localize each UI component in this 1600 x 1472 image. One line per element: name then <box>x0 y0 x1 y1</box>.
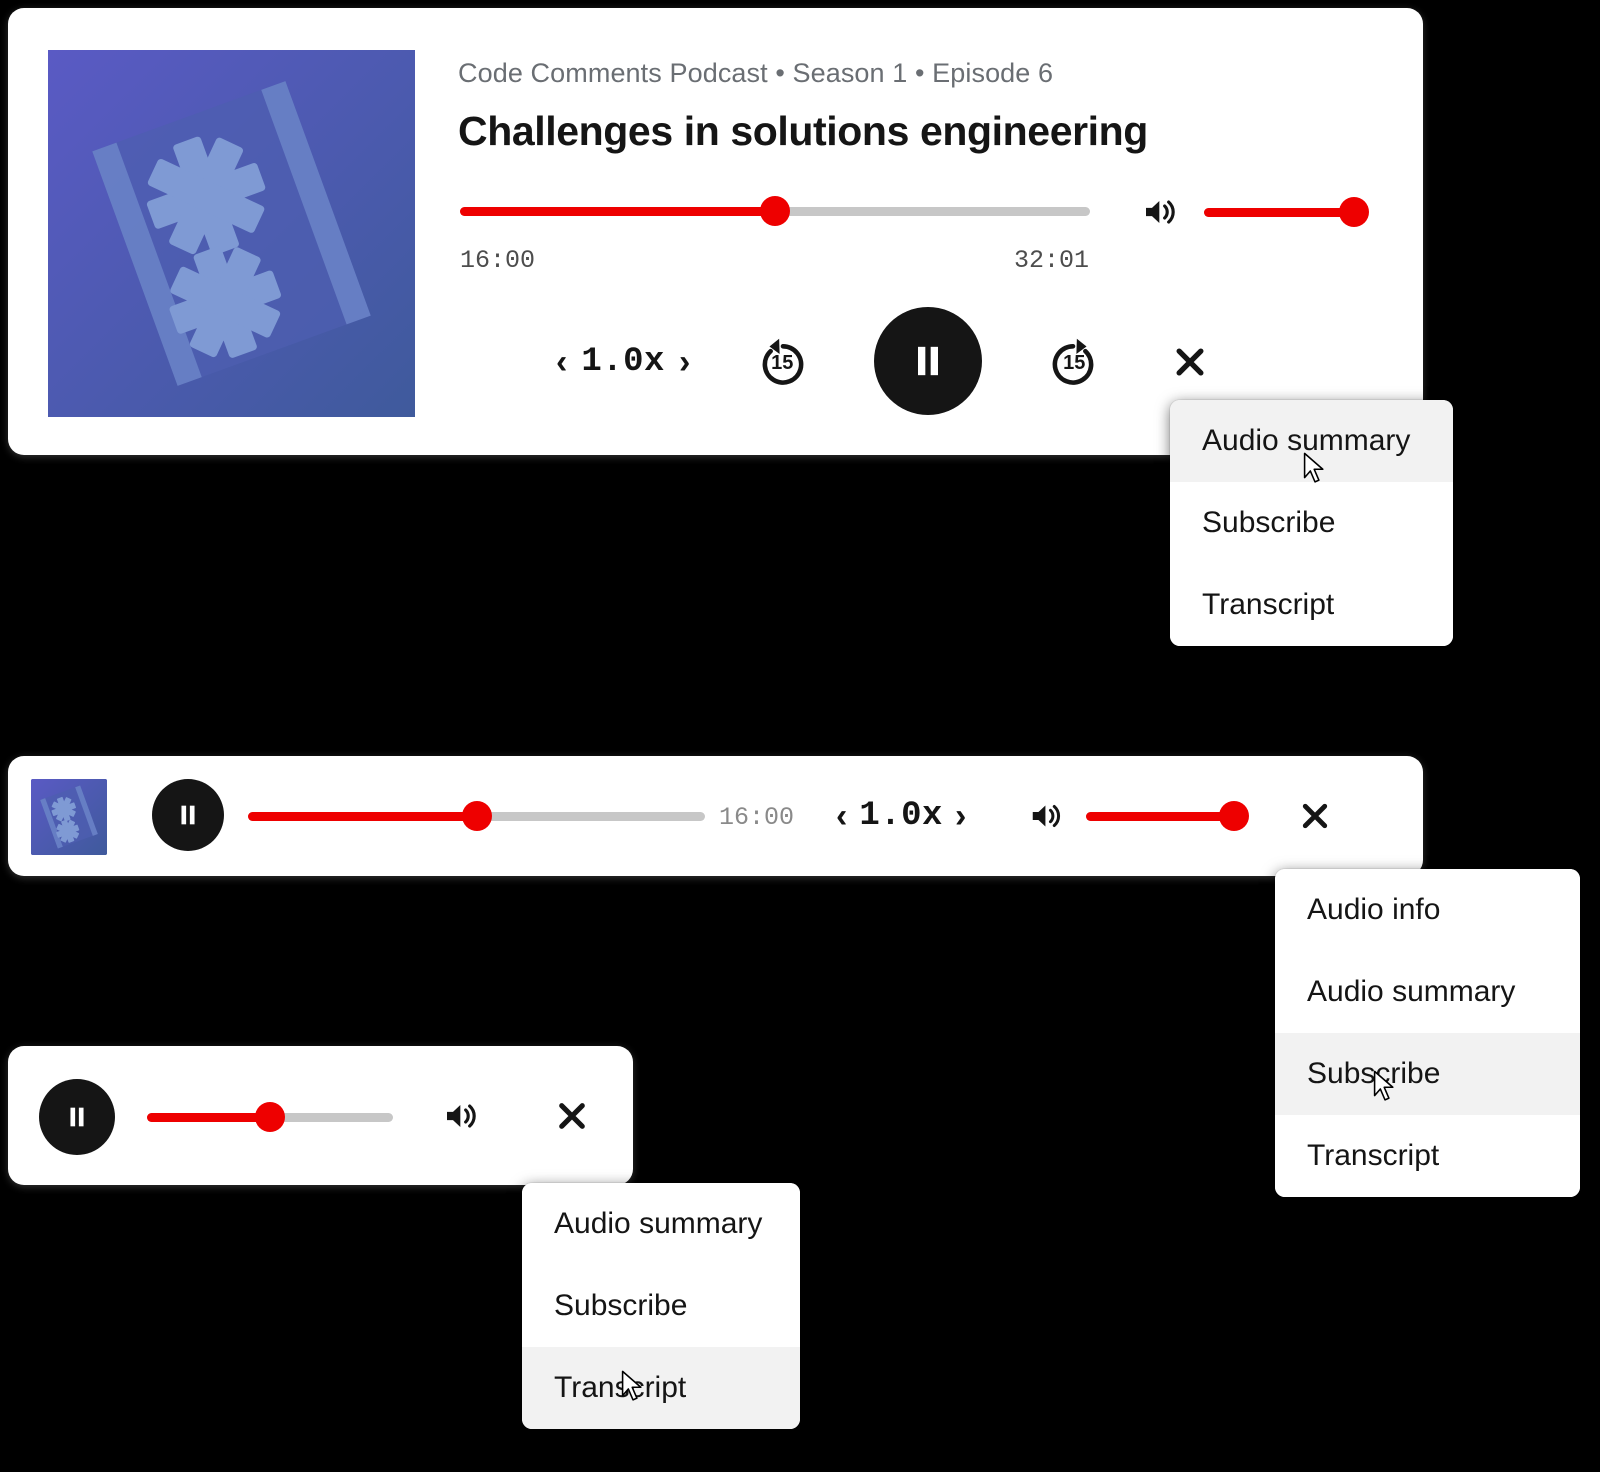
compact-rate-decrease-icon[interactable]: ‹ <box>836 799 847 833</box>
close-glyph <box>553 1097 591 1135</box>
compact-player-card: 16:00 ‹ 1.0x › <box>8 756 1423 876</box>
compact-close-icon[interactable] <box>1292 793 1338 839</box>
full-player-card: Code Comments Podcast • Season 1 • Episo… <box>8 8 1423 455</box>
mini-progress-thumb[interactable] <box>255 1102 285 1132</box>
compact-play-pause-button[interactable] <box>152 779 224 851</box>
screenshot-stage: Code Comments Podcast • Season 1 • Episo… <box>0 0 1600 1472</box>
progress-slider[interactable] <box>460 206 1090 216</box>
total-time: 32:01 <box>1014 246 1089 275</box>
menu-item-audio-summary[interactable]: Audio summary <box>522 1183 800 1265</box>
forward-15-icon[interactable]: 15 <box>1042 331 1104 393</box>
rate-decrease-icon[interactable]: ‹ <box>556 345 567 379</box>
close-glyph <box>1297 798 1333 834</box>
podcast-artwork <box>48 50 415 417</box>
pause-icon <box>174 800 202 830</box>
volume-fill <box>1204 208 1354 217</box>
compact-progress-slider[interactable] <box>248 811 705 821</box>
progress-fill <box>460 207 775 216</box>
rate-increase-icon[interactable]: › <box>679 345 690 379</box>
volume-high-icon[interactable] <box>1137 190 1185 234</box>
volume-slider[interactable] <box>1204 207 1354 217</box>
volume-high-glyph <box>1139 192 1183 232</box>
mini-close-icon[interactable] <box>548 1092 596 1140</box>
menu-item-transcript[interactable]: Transcript <box>1275 1115 1580 1197</box>
menu-item-audio-summary[interactable]: Audio summary <box>1275 951 1580 1033</box>
mini-play-pause-button[interactable] <box>39 1079 115 1155</box>
volume-high-glyph <box>1026 797 1068 835</box>
menu-item-audio-info[interactable]: Audio info <box>1275 869 1580 951</box>
menu-item-audio-summary[interactable]: Audio summary <box>1170 400 1453 482</box>
rate-value: 1.0x <box>581 343 665 381</box>
close-icon[interactable] <box>1166 338 1214 386</box>
podcast-artwork-glyph <box>48 50 415 417</box>
compact-rate-value: 1.0x <box>859 797 943 835</box>
progress-thumb[interactable] <box>760 196 790 226</box>
pause-icon <box>63 1101 91 1133</box>
mini-progress-fill <box>147 1113 270 1122</box>
menu-item-subscribe[interactable]: Subscribe <box>1275 1033 1580 1115</box>
compact-volume-slider[interactable] <box>1086 811 1234 821</box>
close-glyph <box>1170 342 1210 382</box>
transport-controls: ‹ 1.0x › 15 <box>556 313 1246 411</box>
mini-progress-slider[interactable] <box>147 1112 393 1122</box>
compact-volume-thumb[interactable] <box>1219 801 1249 831</box>
compact-volume-fill <box>1086 812 1234 821</box>
compact-playback-rate-control[interactable]: ‹ 1.0x › <box>836 797 966 835</box>
rewind-seconds-label: 15 <box>752 352 812 375</box>
episode-title: Challenges in solutions engineering <box>458 108 1148 155</box>
menu-item-transcript[interactable]: Transcript <box>522 1347 800 1429</box>
menu-item-transcript[interactable]: Transcript <box>1170 564 1453 646</box>
compact-volume-high-icon[interactable] <box>1024 795 1070 837</box>
compact-artwork <box>31 779 107 855</box>
mini-player-card <box>8 1046 633 1185</box>
forward-seconds-label: 15 <box>1044 352 1104 375</box>
playback-rate-control[interactable]: ‹ 1.0x › <box>556 343 690 381</box>
compact-progress-fill <box>248 812 477 821</box>
volume-thumb[interactable] <box>1339 197 1369 227</box>
menu-item-subscribe[interactable]: Subscribe <box>522 1265 800 1347</box>
compact-current-time: 16:00 <box>719 803 794 832</box>
full-player-overflow-menu: Audio summary Subscribe Transcript <box>1170 400 1453 646</box>
episode-meta: Code Comments Podcast • Season 1 • Episo… <box>458 58 1053 89</box>
play-pause-button[interactable] <box>874 307 982 415</box>
rewind-15-icon[interactable]: 15 <box>752 331 814 393</box>
mini-player-overflow-menu: Audio summary Subscribe Transcript <box>522 1183 800 1429</box>
compact-rate-increase-icon[interactable]: › <box>955 799 966 833</box>
compact-progress-thumb[interactable] <box>462 801 492 831</box>
mini-volume-high-icon[interactable] <box>438 1094 486 1138</box>
pause-icon <box>908 339 948 383</box>
compact-artwork-glyph <box>31 779 107 855</box>
menu-item-subscribe[interactable]: Subscribe <box>1170 482 1453 564</box>
volume-high-glyph <box>440 1096 484 1136</box>
compact-player-overflow-menu: Audio info Audio summary Subscribe Trans… <box>1275 869 1580 1197</box>
current-time: 16:00 <box>460 246 535 275</box>
